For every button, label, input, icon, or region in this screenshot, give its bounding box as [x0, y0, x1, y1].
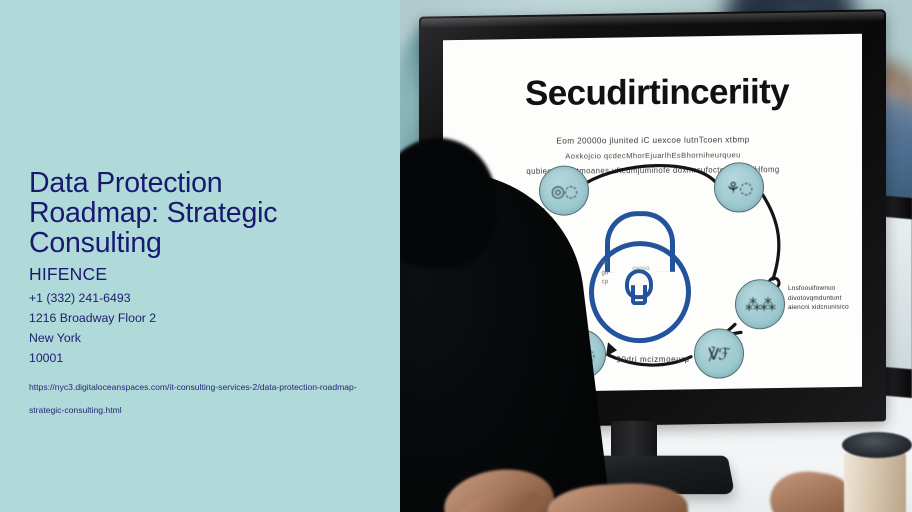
- node-top-left-icon: ◎◌: [540, 166, 588, 214]
- node-top-right: ⚘◌: [714, 162, 764, 212]
- info-content: Data Protection Roadmap: Strategic Consu…: [29, 168, 369, 422]
- slide-subtitle-line-3: qubieoqhfourtmoanes uftcumjuminofe doxmr…: [483, 162, 823, 179]
- city: New York: [29, 328, 369, 348]
- photo-region: Secudirtinceriity Eom 20000o jlunited iC…: [400, 0, 912, 512]
- page-title: Data Protection Roadmap: Strategic Consu…: [29, 168, 329, 258]
- slide-page: Data Protection Roadmap: Strategic Consu…: [0, 0, 912, 512]
- zip-code: 10001: [29, 348, 369, 368]
- info-panel: Data Protection Roadmap: Strategic Consu…: [0, 0, 400, 512]
- slide-subtitle: Eom 20000o jlunited iC uexcoe lutnTcoen …: [483, 132, 823, 179]
- bezel-highlight: [421, 11, 884, 28]
- node-top-right-icon: ⚘◌: [715, 163, 763, 211]
- node-label-right: Lnsfoouifownuo divotovqmduntunt aiencni …: [788, 284, 860, 313]
- node-label-right-line-1: Lnsfoouifownuo: [788, 284, 860, 294]
- node-label-center-small: ab gu cp: [595, 259, 615, 288]
- node-label-right-line-3: aiencni xidcnunisico: [788, 303, 860, 313]
- source-url[interactable]: https://nyc3.digitaloceanspaces.com/it-c…: [29, 376, 359, 422]
- coffee-cup: [844, 452, 906, 512]
- node-label-center-grey: oaoso: [621, 265, 661, 275]
- node-label-center-small-line-3: cp: [595, 278, 615, 288]
- node-label-center-small-line-1: ab: [595, 259, 615, 269]
- node-label-center-small-line-2: gu: [595, 269, 615, 279]
- node-right-icon: ⁂⁂: [736, 280, 784, 328]
- coffee-cup-lid: [842, 432, 912, 458]
- second-monitor-screen: [882, 217, 912, 370]
- node-label-right-line-2: divotovqmduntunt: [788, 293, 860, 303]
- slide-heading: Secudirtinceriity: [457, 72, 857, 115]
- node-right: ⁂⁂: [735, 279, 785, 329]
- phone-number: +1 (332) 241-6493: [29, 288, 369, 308]
- street-address: 1216 Broadway Floor 2: [29, 308, 369, 328]
- padlock-keyhole-stem: [631, 285, 647, 305]
- node-top-left: ◎◌: [539, 165, 589, 215]
- company-name: HIFENCE: [29, 264, 369, 285]
